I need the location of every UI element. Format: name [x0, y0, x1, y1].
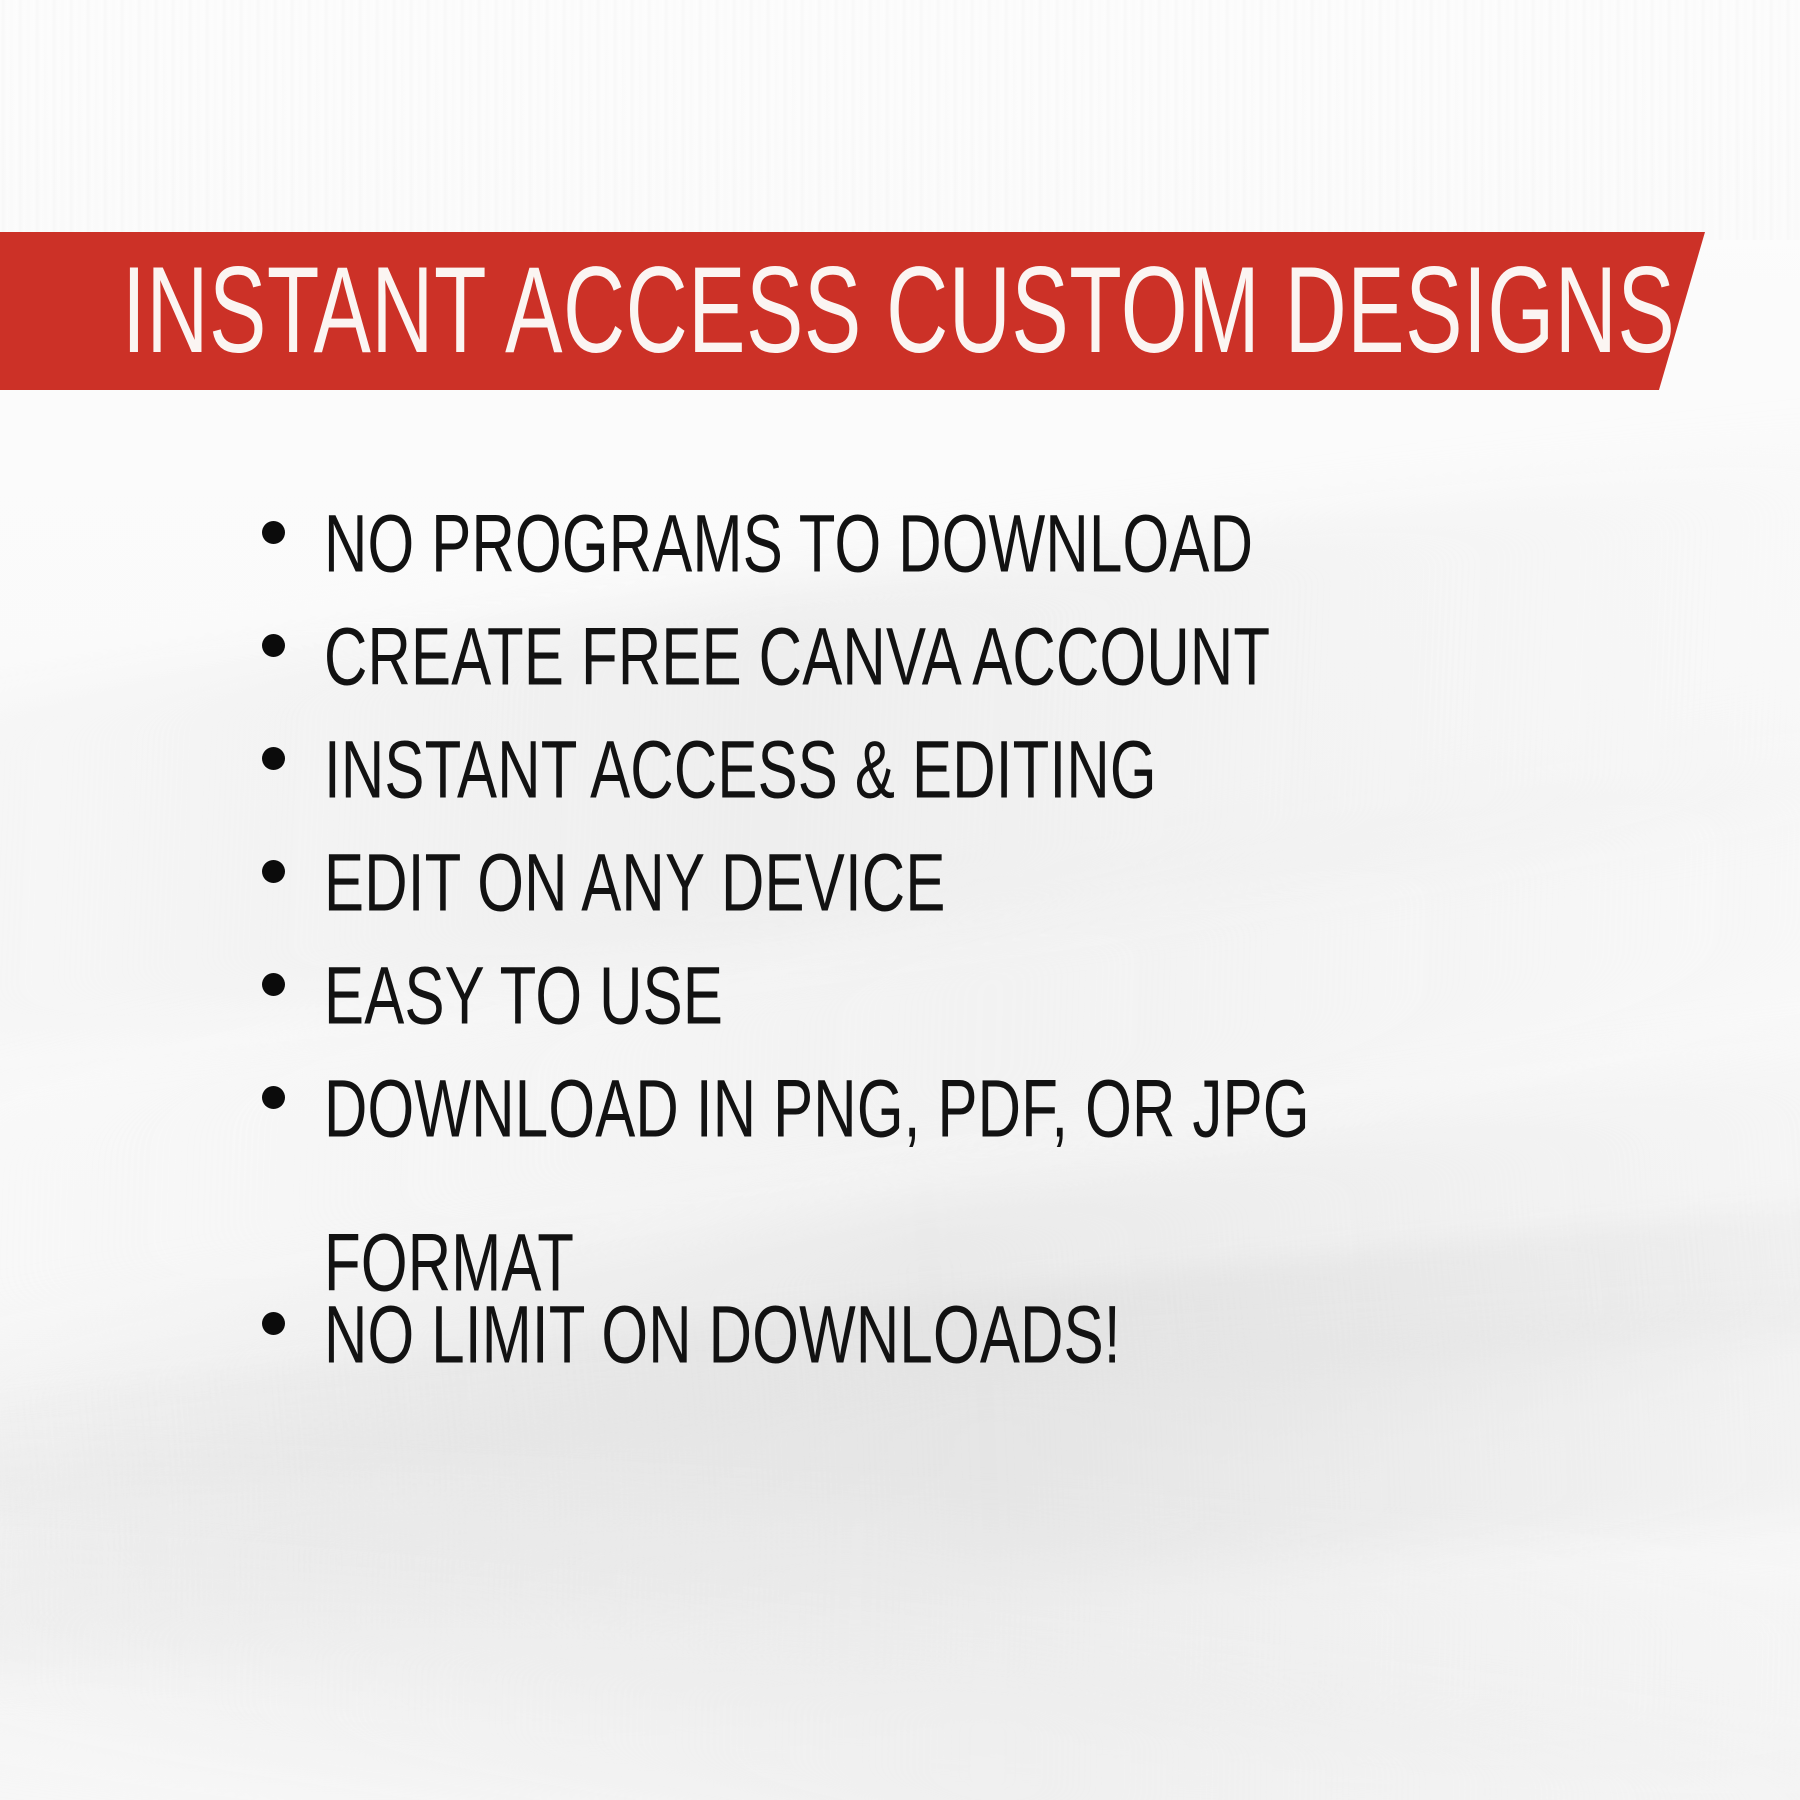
list-item: EDIT ON ANY DEVICE — [0, 794, 1800, 907]
list-item-label: NO LIMIT ON DOWNLOADS! — [324, 1258, 1800, 1412]
list-item: CREATE FREE CANVA ACCOUNT — [0, 568, 1800, 681]
bullet-dot-icon — [262, 973, 285, 996]
bullet-dot-icon — [262, 860, 285, 883]
background-grain — [0, 0, 1800, 240]
list-item: DOWNLOAD IN PNG, PDF, OR JPG FORMAT — [0, 1020, 1800, 1246]
header-banner: INSTANT ACCESS CUSTOM DESIGNS — [0, 232, 1705, 390]
bullet-dot-icon — [262, 747, 285, 770]
list-item: NO PROGRAMS TO DOWNLOAD — [0, 455, 1800, 568]
promo-graphic: INSTANT ACCESS CUSTOM DESIGNS NO PROGRAM… — [0, 0, 1800, 1800]
feature-list: NO PROGRAMS TO DOWNLOADCREATE FREE CANVA… — [0, 455, 1800, 1359]
list-item: NO LIMIT ON DOWNLOADS! — [0, 1246, 1800, 1359]
bullet-dot-icon — [262, 1312, 285, 1335]
bullet-dot-icon — [262, 521, 285, 544]
list-item: INSTANT ACCESS & EDITING — [0, 681, 1800, 794]
list-item: EASY TO USE — [0, 907, 1800, 1020]
bullet-dot-icon — [262, 1086, 285, 1109]
bullet-dot-icon — [262, 634, 285, 657]
